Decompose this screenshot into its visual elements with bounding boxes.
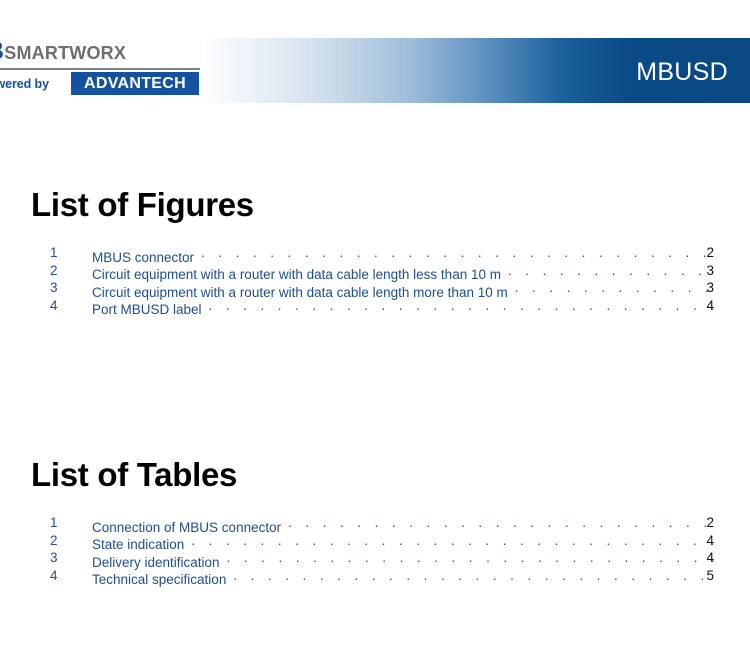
toc-entry-page: 3 bbox=[696, 279, 714, 297]
page-title-figures: List of Figures bbox=[31, 185, 750, 225]
toc-entry-page: 4 bbox=[696, 297, 714, 315]
advantech-logo-text: ADVANTECH bbox=[71, 72, 199, 95]
toc-list-figures: 1 MBUS connector 2 2 Circuit equipment w… bbox=[0, 244, 750, 314]
section-list-of-tables: List of Tables 1 Connection of MBUS conn… bbox=[0, 455, 750, 584]
toc-entry[interactable]: 2 Circuit equipment with a router with d… bbox=[0, 262, 750, 280]
toc-entry[interactable]: 3 Circuit equipment with a router with d… bbox=[0, 279, 750, 297]
toc-entry-page: 4 bbox=[696, 549, 714, 567]
toc-entry-page: 3 bbox=[696, 262, 714, 280]
toc-dot-leader bbox=[233, 567, 714, 585]
toc-entry[interactable]: 4 Technical specification 5 bbox=[0, 567, 750, 585]
header-banner: MBUSD bbox=[205, 38, 750, 103]
toc-entry[interactable]: 4 Port MBUSD label 4 bbox=[0, 297, 750, 315]
toc-dot-leader bbox=[508, 262, 714, 280]
toc-entry-number: 2 bbox=[50, 262, 64, 280]
toc-entry-number: 3 bbox=[50, 279, 64, 297]
page-title-tables: List of Tables bbox=[31, 455, 750, 495]
toc-entry-page: 2 bbox=[696, 514, 714, 532]
toc-entry-page: 5 bbox=[696, 567, 714, 585]
toc-dot-leader bbox=[515, 279, 714, 297]
brand-logo-block: BSmartWorx owered by ADVANTECH bbox=[0, 38, 201, 104]
section-list-of-figures: List of Figures 1 MBUS connector 2 2 Cir… bbox=[0, 185, 750, 314]
toc-entry[interactable]: 2 State indication 4 bbox=[0, 532, 750, 550]
powered-by-label: owered by bbox=[0, 73, 49, 95]
toc-entry-body: Technical specification bbox=[92, 567, 714, 589]
toc-dot-leader bbox=[191, 532, 714, 550]
toc-entry-page: 4 bbox=[696, 532, 714, 550]
toc-entry[interactable]: 1 Connection of MBUS connector 2 bbox=[0, 514, 750, 532]
toc-entry-label: Port MBUSD label bbox=[92, 301, 209, 319]
toc-dot-leader bbox=[209, 297, 714, 315]
document-title: MBUSD bbox=[636, 58, 728, 86]
brand-company-name: SmartWorx bbox=[4, 37, 126, 65]
toc-entry[interactable]: 3 Delivery identification 4 bbox=[0, 549, 750, 567]
toc-entry[interactable]: 1 MBUS connector 2 bbox=[0, 244, 750, 262]
toc-entry-number: 4 bbox=[50, 297, 64, 315]
toc-entry-number: 1 bbox=[50, 514, 64, 532]
toc-entry-body: Port MBUSD label bbox=[92, 297, 714, 319]
toc-entry-number: 2 bbox=[50, 532, 64, 550]
page-header: BSmartWorx owered by ADVANTECH MBUSD bbox=[0, 0, 750, 110]
toc-entry-number: 1 bbox=[50, 244, 64, 262]
toc-list-tables: 1 Connection of MBUS connector 2 2 State… bbox=[0, 514, 750, 584]
smartworx-logo: BSmartWorx bbox=[0, 38, 126, 64]
toc-entry-page: 2 bbox=[696, 244, 714, 262]
toc-dot-leader bbox=[201, 244, 714, 262]
brand-divider-line bbox=[0, 68, 200, 70]
toc-dot-leader bbox=[288, 514, 714, 532]
toc-entry-label: Technical specification bbox=[92, 571, 233, 589]
advantech-logo: ADVANTECH bbox=[71, 72, 199, 95]
toc-entry-number: 4 bbox=[50, 567, 64, 585]
toc-dot-leader bbox=[227, 549, 714, 567]
toc-entry-number: 3 bbox=[50, 549, 64, 567]
